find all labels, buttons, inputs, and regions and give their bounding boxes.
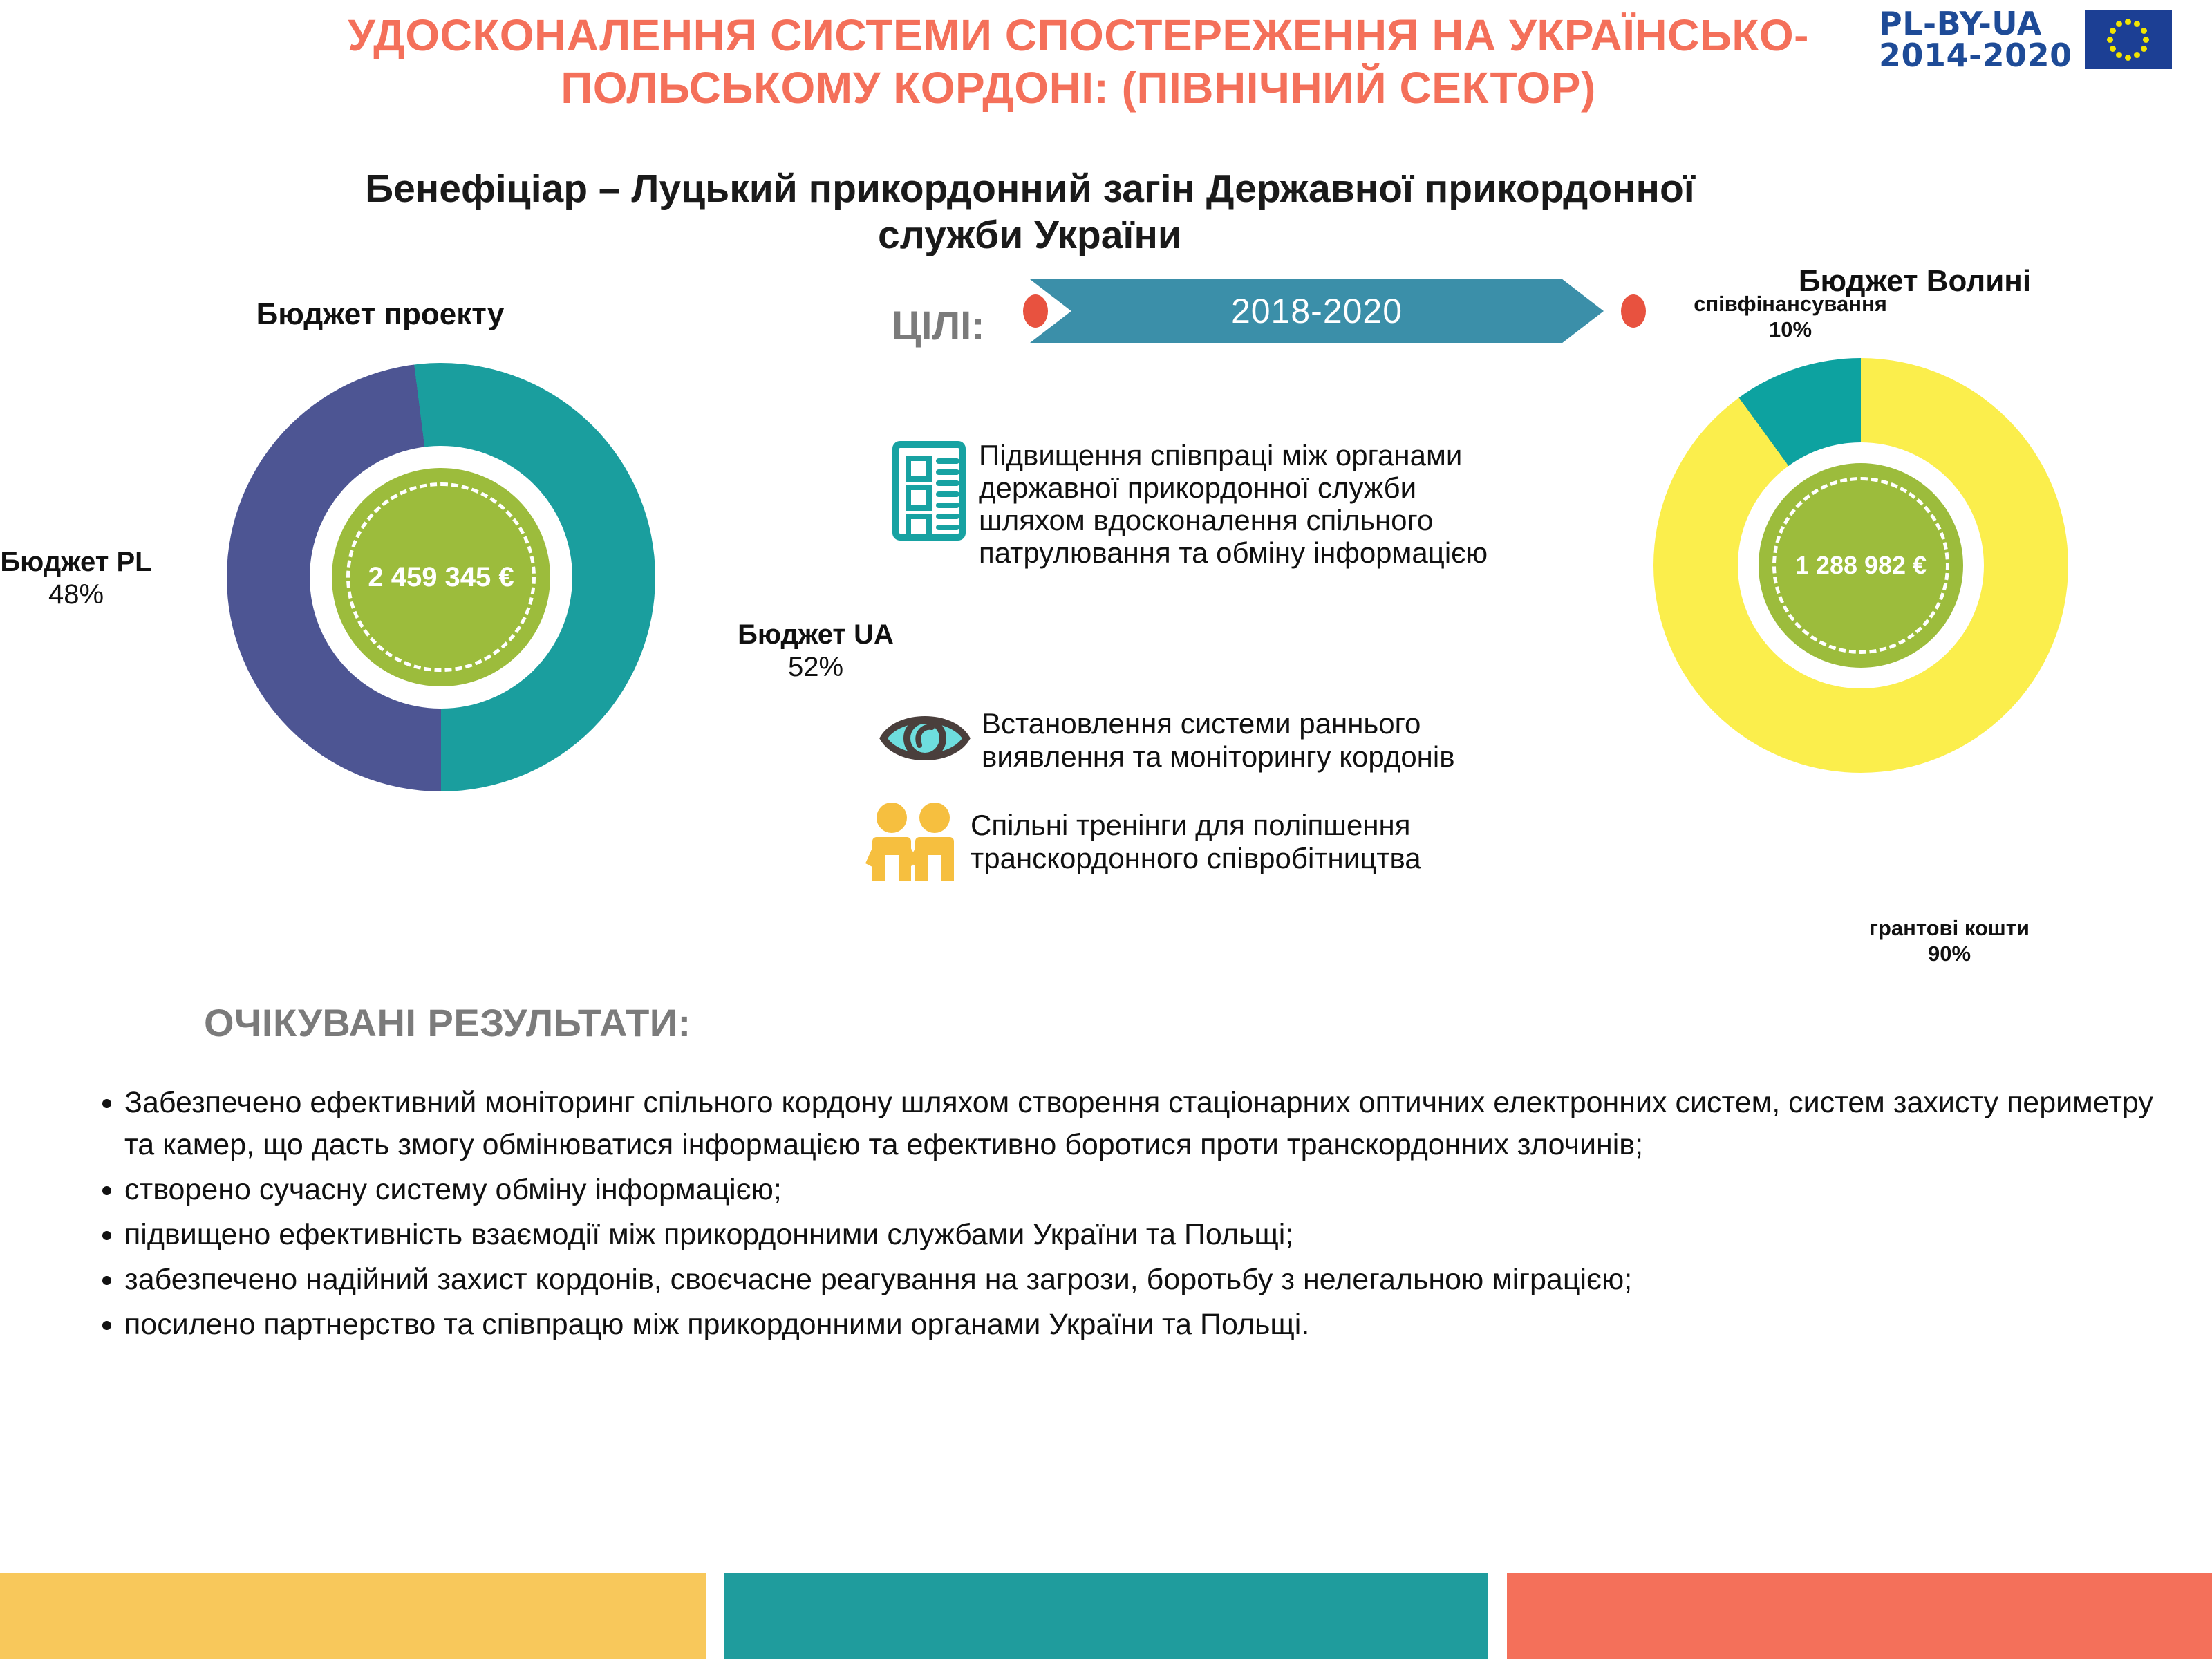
slide-canvas: PL-BY-UA 2014-2020 УДОСКОНАЛЕННЯ СИСТЕМИ… bbox=[0, 0, 2212, 1659]
list-item: Забезпечено ефективний моніторинг спільн… bbox=[124, 1082, 2164, 1166]
list-item: забезпечено надійний захист кордонів, св… bbox=[124, 1259, 2164, 1301]
list-item: посилено партнерство та співпрацю між пр… bbox=[124, 1304, 2164, 1346]
eu-star bbox=[2134, 21, 2140, 27]
legend-grant-funds-percent: 90% bbox=[1804, 941, 2094, 967]
goal-item-2: Встановлення системи раннього виявлення … bbox=[879, 705, 1571, 775]
results-bullet-list: Забезпечено ефективний моніторинг спільн… bbox=[83, 1082, 2164, 1349]
eye-icon bbox=[879, 705, 971, 775]
legend-cofinancing-label: співфінансування bbox=[1645, 292, 1935, 317]
page-subtitle: Бенефіціар – Луцький прикордонний загін … bbox=[297, 166, 1763, 258]
donut-center-value: 1 288 982 € bbox=[1795, 551, 1927, 580]
legend-budget-pl-label: Бюджет PL bbox=[0, 546, 159, 579]
legend-budget-ua-label: Бюджет UA bbox=[719, 619, 912, 651]
list-item: створено сучасну систему обміну інформац… bbox=[124, 1169, 2164, 1211]
goal-item-3: Спільні тренінги для поліпшення транскор… bbox=[863, 791, 1575, 892]
project-period-label: 2018-2020 bbox=[1030, 279, 1604, 343]
goal-item-1-text: Підвищення співпраці між органами держав… bbox=[979, 439, 1499, 569]
page-title: УДОСКОНАЛЕННЯ СИСТЕМИ СПОСТЕРЕЖЕННЯ НА У… bbox=[297, 10, 1859, 114]
eu-star bbox=[2107, 37, 2113, 43]
eu-star bbox=[2110, 28, 2116, 34]
legend-cofinancing-percent: 10% bbox=[1645, 317, 1935, 343]
eu-star bbox=[2143, 37, 2149, 43]
eu-star bbox=[2141, 46, 2147, 52]
legend-grant-funds-label: грантові кошти bbox=[1804, 916, 2094, 941]
goals-heading: ЦІЛІ: bbox=[892, 303, 985, 349]
eu-star bbox=[2134, 52, 2140, 58]
eu-star bbox=[2116, 21, 2122, 27]
footer-bar-teal bbox=[724, 1573, 1488, 1659]
legend-budget-ua: Бюджет UA 52% bbox=[719, 619, 912, 684]
legend-grant-funds: грантові кошти 90% bbox=[1804, 916, 2094, 966]
goal-item-2-text: Встановлення системи раннього виявлення … bbox=[982, 707, 1571, 772]
eu-star bbox=[2141, 28, 2147, 34]
volyn-budget-donut: 1 288 982 € bbox=[1653, 358, 2068, 773]
donut-center-disc: 2 459 345 € bbox=[332, 468, 550, 686]
eu-star bbox=[2125, 55, 2131, 61]
list-item: підвищено ефективність взаємодії між при… bbox=[124, 1214, 2164, 1256]
donut-center-disc: 1 288 982 € bbox=[1759, 463, 1963, 668]
donut-ring: 2 459 345 € bbox=[227, 363, 655, 791]
checklist-icon bbox=[890, 439, 968, 546]
logo-line-2: 2014-2020 bbox=[1879, 39, 2072, 71]
project-period-banner: 2018-2020 bbox=[1030, 279, 1604, 343]
goal-item-1: Підвищення співпраці між органами держав… bbox=[890, 439, 1499, 569]
chart-title-project-budget: Бюджет проекту bbox=[159, 297, 601, 332]
eu-star bbox=[2125, 19, 2131, 25]
project-budget-donut: 2 459 345 € bbox=[227, 363, 655, 791]
footer-bar-yellow bbox=[0, 1573, 706, 1659]
legend-cofinancing: співфінансування 10% bbox=[1645, 292, 1935, 342]
programme-logo: PL-BY-UA 2014-2020 bbox=[1879, 6, 2204, 73]
goal-item-3-text: Спільні тренінги для поліпшення транскор… bbox=[971, 809, 1575, 874]
footer-bar-coral bbox=[1507, 1573, 2212, 1659]
logo-line-1: PL-BY-UA bbox=[1879, 8, 2072, 39]
legend-budget-pl: Бюджет PL 48% bbox=[0, 546, 159, 611]
donut-ring: 1 288 982 € bbox=[1653, 358, 2068, 773]
results-heading: ОЧІКУВАНІ РЕЗУЛЬТАТИ: bbox=[204, 1000, 691, 1045]
eu-flag-icon bbox=[2085, 10, 2172, 69]
eu-star bbox=[2110, 46, 2116, 52]
people-holding-hands-icon bbox=[863, 791, 959, 892]
legend-budget-pl-percent: 48% bbox=[0, 579, 159, 611]
legend-budget-ua-percent: 52% bbox=[719, 651, 912, 684]
logo-wordmark: PL-BY-UA 2014-2020 bbox=[1879, 8, 2072, 71]
donut-center-value: 2 459 345 € bbox=[368, 562, 514, 593]
ribbon-dot-right bbox=[1621, 294, 1646, 328]
eu-star bbox=[2116, 52, 2122, 58]
